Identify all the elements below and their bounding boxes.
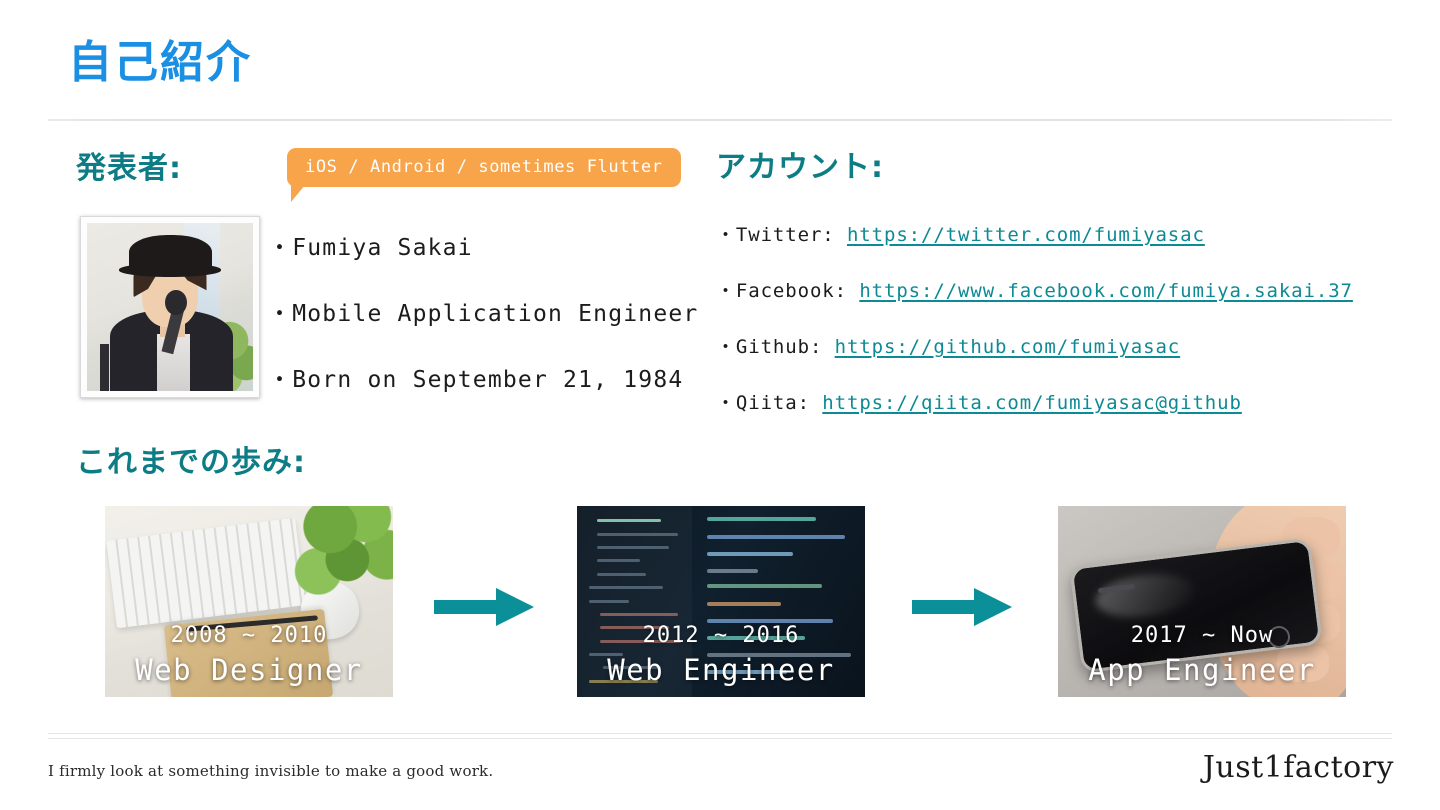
- profile-name-text: Fumiya Sakai: [292, 235, 473, 261]
- editor-file-row: [597, 519, 660, 522]
- photo-microphone: [165, 290, 187, 315]
- editor-file-row: [597, 533, 678, 536]
- account-link-qiita[interactable]: https://qiita.com/fumiyasac@github: [822, 392, 1242, 414]
- accounts-list: ・Twitter: https://twitter.com/fumiyasac …: [716, 220, 1353, 444]
- timeline-card-caption: 2008 ~ 2010 Web Designer: [105, 623, 393, 687]
- history-section-heading: これまでの歩み:: [76, 437, 306, 481]
- account-link-github[interactable]: https://github.com/fumiyasac: [835, 336, 1181, 358]
- accounts-section-heading: アカウント:: [716, 142, 884, 186]
- list-item: ・Twitter: https://twitter.com/fumiyasac: [716, 220, 1353, 247]
- profile-photo-frame: [80, 216, 260, 398]
- bullet-dot-icon: ・: [716, 336, 736, 358]
- speech-bubble: iOS / Android / sometimes Flutter: [287, 148, 681, 187]
- photo-hat-brim: [119, 263, 222, 276]
- timeline-role: Web Designer: [105, 653, 393, 687]
- timeline-years: 2017 ~ Now: [1058, 623, 1346, 648]
- code-token: [707, 552, 793, 556]
- editor-file-row: [597, 573, 646, 576]
- account-label-qiita: Qiita:: [736, 392, 810, 414]
- timeline-role: Web Engineer: [577, 653, 865, 687]
- timeline-card: 2012 ~ 2016 Web Engineer: [577, 506, 865, 697]
- bullet-dot-icon: ・: [716, 224, 736, 246]
- profile-bullet-list: ・Fumiya Sakai ・Mobile Application Engine…: [268, 228, 698, 426]
- code-token: [707, 602, 782, 606]
- plant-shape: [284, 506, 393, 609]
- avatar: [87, 223, 253, 391]
- footer-logo: Just1factory: [1203, 750, 1394, 785]
- page-title: 自己紹介: [68, 38, 252, 89]
- bullet-dot-icon: ・: [268, 235, 292, 261]
- photo-mic-stand: [100, 344, 108, 391]
- bullet-dot-icon: ・: [268, 367, 292, 393]
- account-label-facebook: Facebook:: [736, 280, 847, 302]
- timeline-years: 2012 ~ 2016: [577, 623, 865, 648]
- account-link-twitter[interactable]: https://twitter.com/fumiyasac: [847, 224, 1205, 246]
- bullet-dot-icon: ・: [716, 392, 736, 414]
- code-token: [707, 535, 845, 539]
- code-token: [707, 584, 822, 588]
- slide-root: 自己紹介 発表者: iOS / Android / sometimes Flut…: [0, 0, 1440, 810]
- speech-bubble-body: iOS / Android / sometimes Flutter: [287, 148, 681, 187]
- editor-file-row: [589, 600, 629, 603]
- profile-birth-text: Born on September 21, 1984: [292, 367, 683, 393]
- timeline-card-caption: 2012 ~ 2016 Web Engineer: [577, 623, 865, 687]
- code-token: [707, 569, 759, 573]
- list-item: ・Qiita: https://qiita.com/fumiyasac@gith…: [716, 388, 1353, 415]
- speaker-section-heading: 発表者:: [76, 143, 182, 187]
- timeline-card-caption: 2017 ~ Now App Engineer: [1058, 623, 1346, 687]
- account-link-facebook[interactable]: https://www.facebook.com/fumiya.sakai.37: [859, 280, 1353, 302]
- list-item: ・Fumiya Sakai: [268, 228, 698, 262]
- code-token: [707, 517, 816, 521]
- timeline-card: 2017 ~ Now App Engineer: [1058, 506, 1346, 697]
- title-divider: [48, 119, 1392, 121]
- timeline-card: 2008 ~ 2010 Web Designer: [105, 506, 393, 697]
- account-label-github: Github:: [736, 336, 822, 358]
- list-item: ・Facebook: https://www.facebook.com/fumi…: [716, 276, 1353, 303]
- speech-bubble-tail-icon: [291, 185, 305, 202]
- screen-glare: [1093, 569, 1196, 621]
- list-item: ・Github: https://github.com/fumiyasac: [716, 332, 1353, 359]
- footer-tagline: I firmly look at something invisible to …: [48, 762, 493, 780]
- account-label-twitter: Twitter:: [736, 224, 835, 246]
- bullet-dot-icon: ・: [716, 280, 736, 302]
- editor-file-row: [597, 546, 669, 549]
- footer-divider-top: [48, 733, 1392, 734]
- list-item: ・Born on September 21, 1984: [268, 360, 698, 394]
- speech-bubble-text: iOS / Android / sometimes Flutter: [305, 157, 663, 177]
- keyboard-shape: [106, 518, 305, 628]
- footer-divider-bottom: [48, 738, 1392, 739]
- arrow-right-icon: [912, 586, 1012, 628]
- bullet-dot-icon: ・: [268, 301, 292, 327]
- profile-role-text: Mobile Application Engineer: [292, 301, 698, 327]
- list-item: ・Mobile Application Engineer: [268, 294, 698, 328]
- editor-file-row: [589, 586, 664, 589]
- arrow-right-icon: [434, 586, 534, 628]
- editor-file-row: [600, 613, 678, 616]
- timeline-role: App Engineer: [1058, 653, 1346, 687]
- timeline-years: 2008 ~ 2010: [105, 623, 393, 648]
